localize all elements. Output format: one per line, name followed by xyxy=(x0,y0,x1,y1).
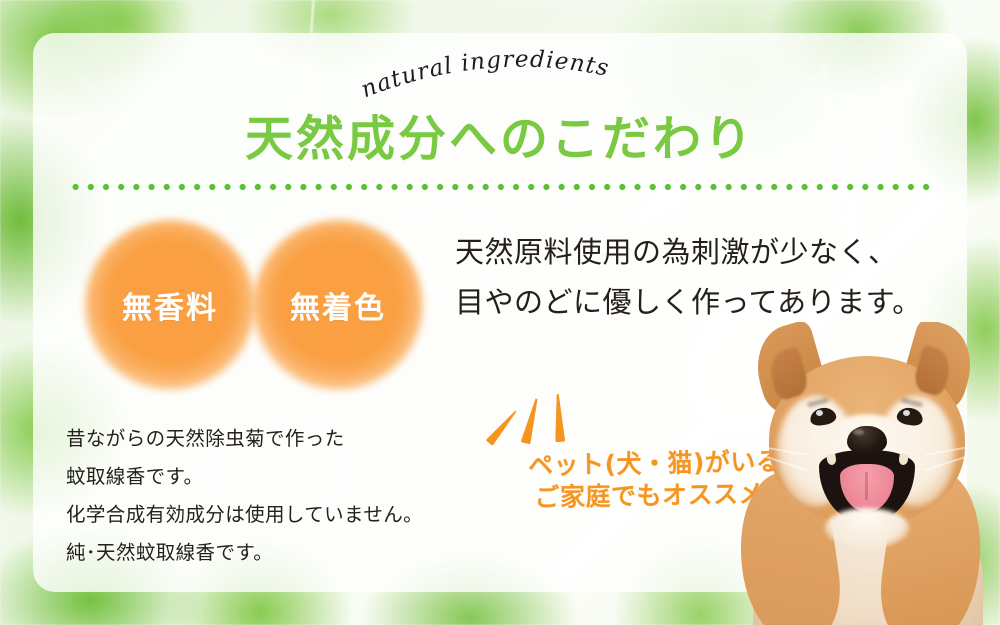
product-description-line-3: 化学合成有効成分は使用していません。 xyxy=(66,496,516,534)
dog-tongue-crease xyxy=(865,472,868,500)
dog-eye-right-highlight xyxy=(903,410,910,416)
badge-colorant-free: 無着色 xyxy=(253,220,423,390)
product-description: 昔ながらの天然除虫菊で作った 蚊取線香です。 化学合成有効成分は使用していません… xyxy=(66,420,516,572)
dog-lower-jaw xyxy=(825,508,909,548)
feature-description-line-2: 目やのどに優しく作ってあります。 xyxy=(455,278,955,328)
spark-stroke-middle xyxy=(521,397,542,444)
dog-eye-left-highlight xyxy=(816,410,823,416)
badge-fragrance-free: 無香料 xyxy=(85,220,255,390)
product-description-line-1: 昔ながらの天然除虫菊で作った xyxy=(66,420,516,458)
feature-description-line-1: 天然原料使用の為刺激が少なく、 xyxy=(455,228,955,278)
dog-nose-highlight xyxy=(853,429,864,435)
spark-burst-icon xyxy=(492,392,592,450)
feature-description: 天然原料使用の為刺激が少なく、 目やのどに優しく作ってあります。 xyxy=(455,228,955,328)
product-description-line-4: 純･天然蚊取線香です。 xyxy=(66,534,516,572)
svg-text:natural ingredients: natural ingredients xyxy=(358,47,612,104)
script-heading-text: natural ingredients xyxy=(358,47,612,104)
page-title: 天然成分へのこだわり xyxy=(0,112,1000,167)
shiba-inu-dog-photo xyxy=(735,322,1000,625)
dotted-divider xyxy=(68,183,932,191)
product-description-line-2: 蚊取線香です。 xyxy=(66,458,516,496)
script-heading: natural ingredients xyxy=(355,48,655,108)
badge-label: 無着色 xyxy=(290,283,386,327)
spark-stroke-right xyxy=(553,394,565,442)
badge-label: 無香料 xyxy=(122,283,218,327)
